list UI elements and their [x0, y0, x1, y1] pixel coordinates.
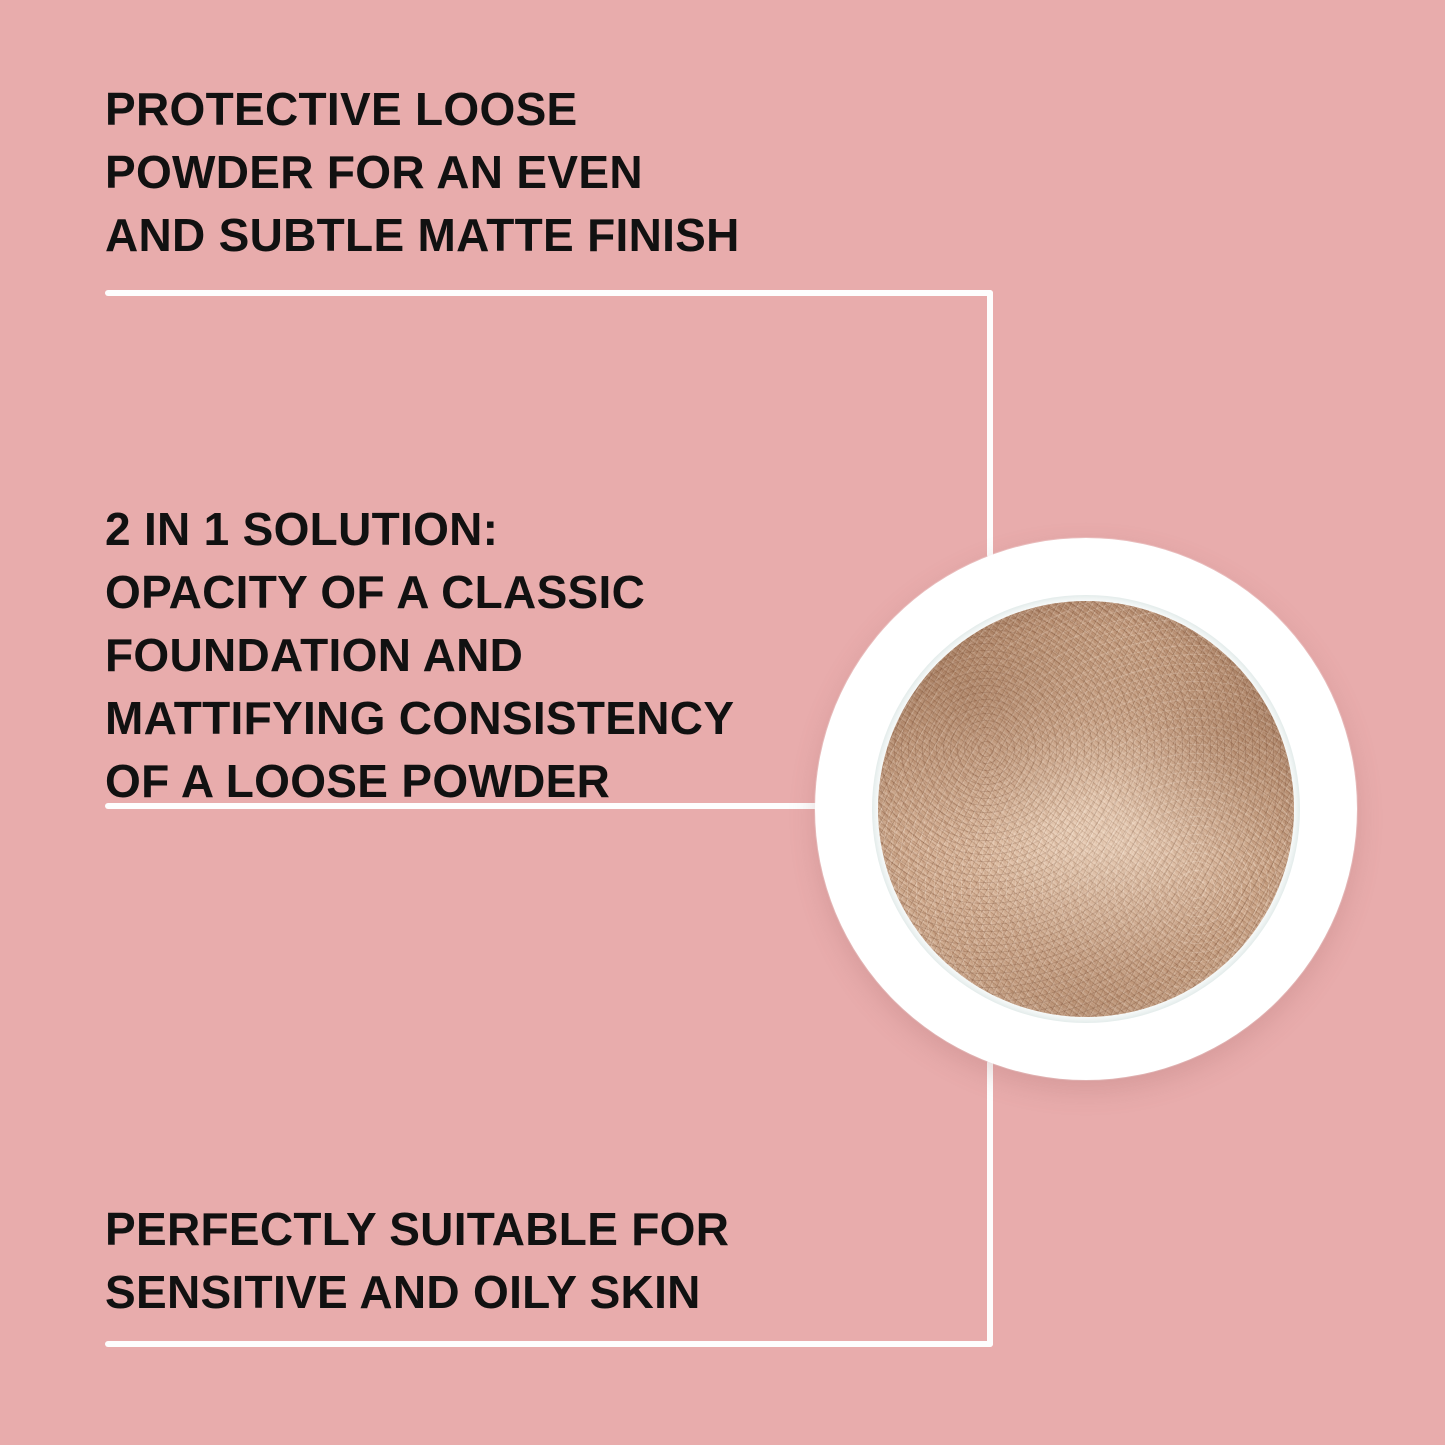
powder-shading [878, 601, 1294, 1017]
feature-heading-2-in-1-solution: 2 IN 1 SOLUTION: OPACITY OF A CLASSIC FO… [105, 498, 925, 813]
horizontal-rule-top [105, 290, 993, 296]
vertical-rule-upper [987, 290, 993, 558]
feature-heading-protective-loose-powder: PROTECTIVE LOOSE POWDER FOR AN EVEN AND … [105, 78, 925, 267]
horizontal-rule-bottom [105, 1341, 993, 1347]
product-infographic: PROTECTIVE LOOSE POWDER FOR AN EVEN AND … [0, 0, 1445, 1445]
feature-heading-suitable-sensitive-oily-skin: PERFECTLY SUITABLE FOR SENSITIVE AND OIL… [105, 1198, 925, 1324]
vertical-rule-lower [987, 1060, 993, 1347]
powder-surface [878, 601, 1294, 1017]
